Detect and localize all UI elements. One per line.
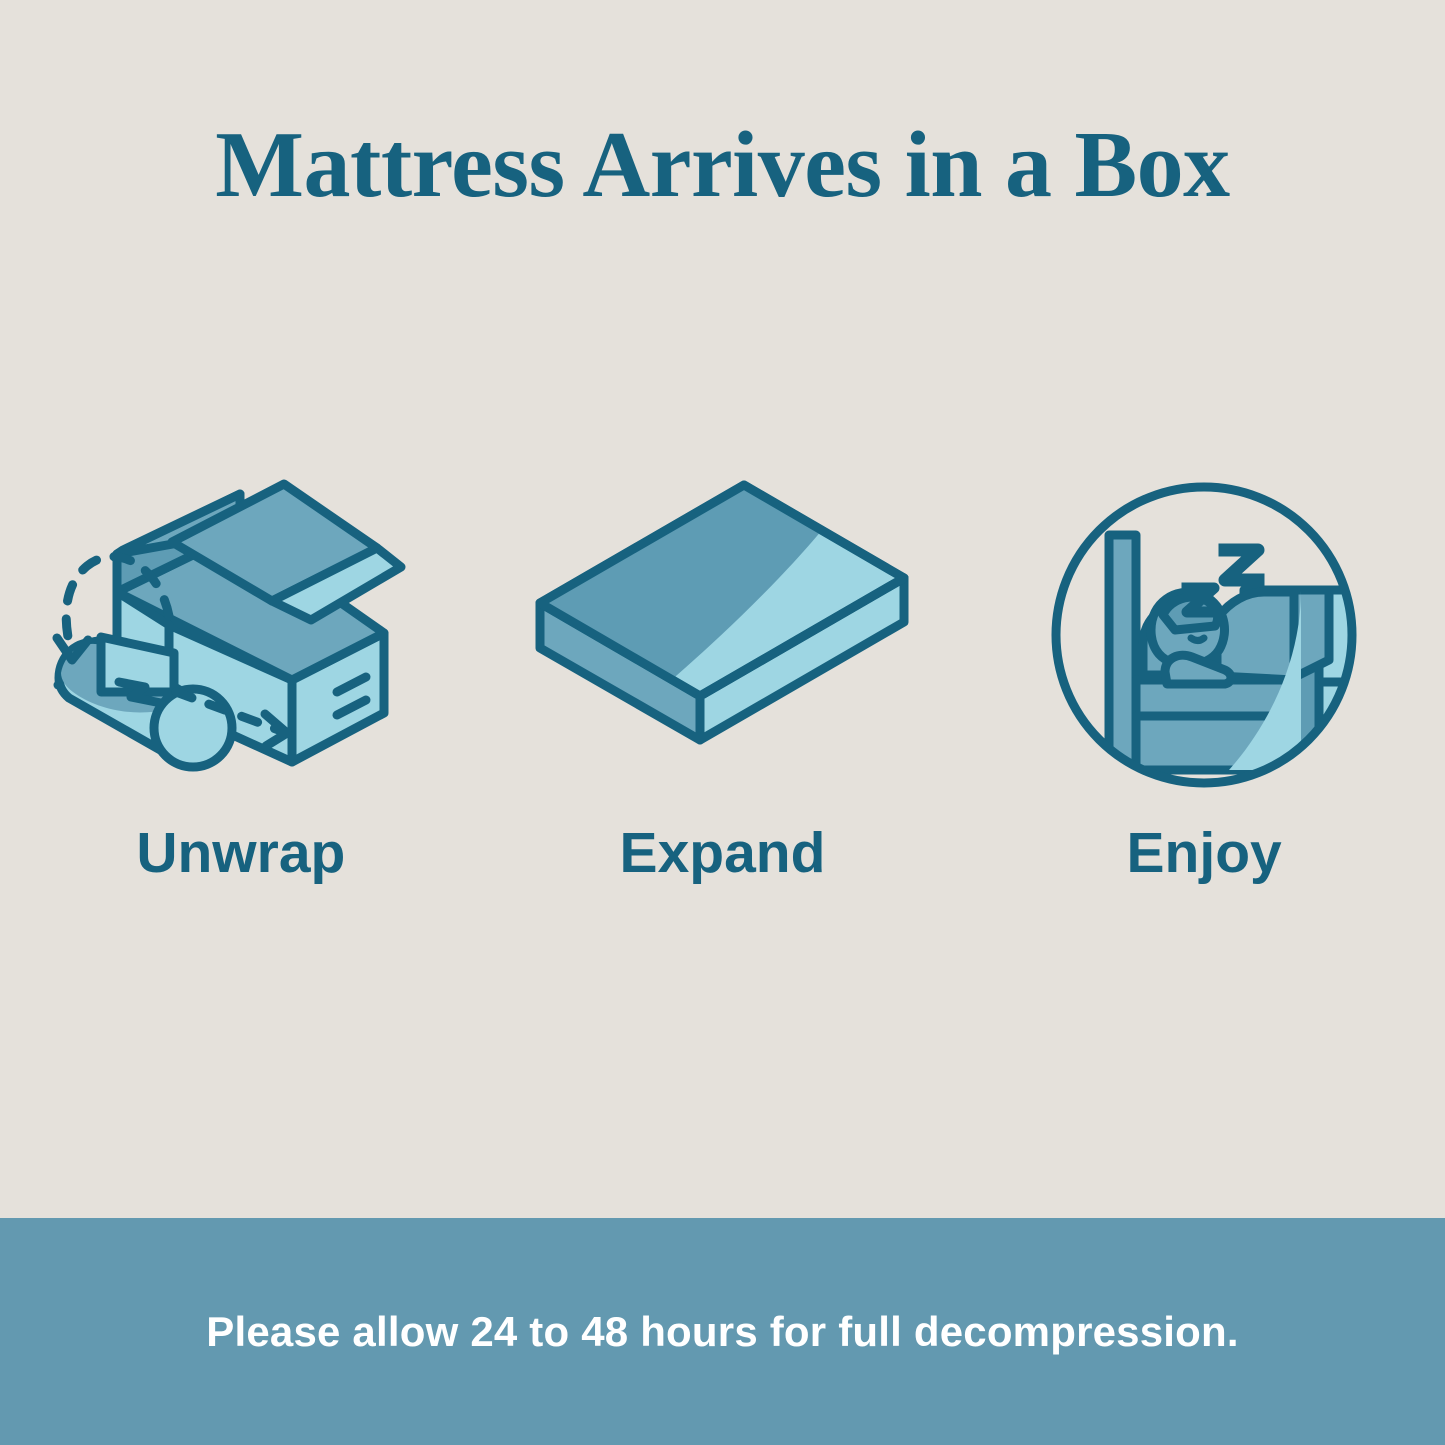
step-expand-icon-wrap [522,455,922,815]
step-unwrap-label: Unwrap [136,825,345,882]
step-enjoy-label: Enjoy [1127,825,1282,882]
flat-mattress-slab-icon [522,470,922,800]
step-expand: Expand [502,455,942,882]
infographic-page: Mattress Arrives in a Box [0,0,1445,1445]
person-sleeping-in-bed-circle-icon [1039,470,1369,800]
step-unwrap-icon-wrap [41,455,441,815]
bottom-banner: Please allow 24 to 48 hours for full dec… [0,1218,1445,1445]
steps-row: Unwrap [0,455,1445,955]
step-expand-label: Expand [620,825,826,882]
page-title: Mattress Arrives in a Box [0,118,1445,212]
step-enjoy-icon-wrap [1039,455,1369,815]
step-unwrap: Unwrap [21,455,461,882]
open-box-with-rolled-mattress-icon [41,470,441,800]
step-enjoy: Enjoy [984,455,1424,882]
banner-message: Please allow 24 to 48 hours for full dec… [206,1308,1239,1356]
